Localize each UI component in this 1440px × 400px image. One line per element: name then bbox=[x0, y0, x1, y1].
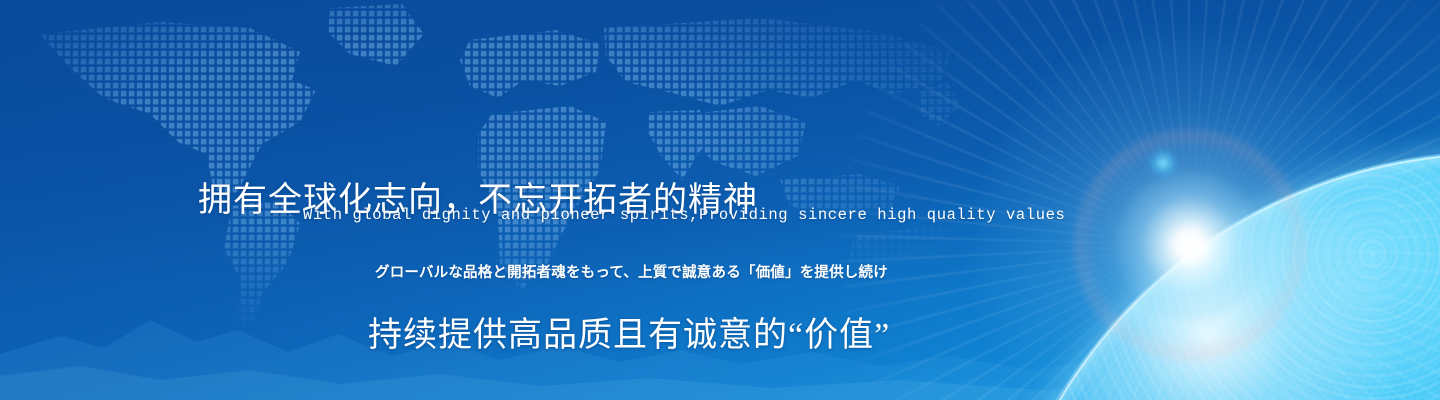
banner-headline: 拥有全球化志向，不忘开拓者的精神 持续提供高品质且有诚意的“价值” bbox=[0, 88, 1440, 400]
banner-copy: 拥有全球化志向，不忘开拓者的精神 持续提供高品质且有诚意的“价值” With g… bbox=[0, 0, 1440, 400]
headline-line-2: 持续提供高品质且有诚意的“价值” bbox=[0, 313, 1440, 358]
hero-banner: 拥有全球化志向，不忘开拓者的精神 持续提供高品质且有诚意的“价值” With g… bbox=[0, 0, 1440, 400]
banner-subtitle-english: With global dignity and pioneer spirits,… bbox=[0, 206, 1440, 224]
banner-subtitle-japanese: グローバルな品格と開拓者魂をもって、上質で誠意ある「価値」を提供し続け bbox=[0, 261, 1440, 282]
